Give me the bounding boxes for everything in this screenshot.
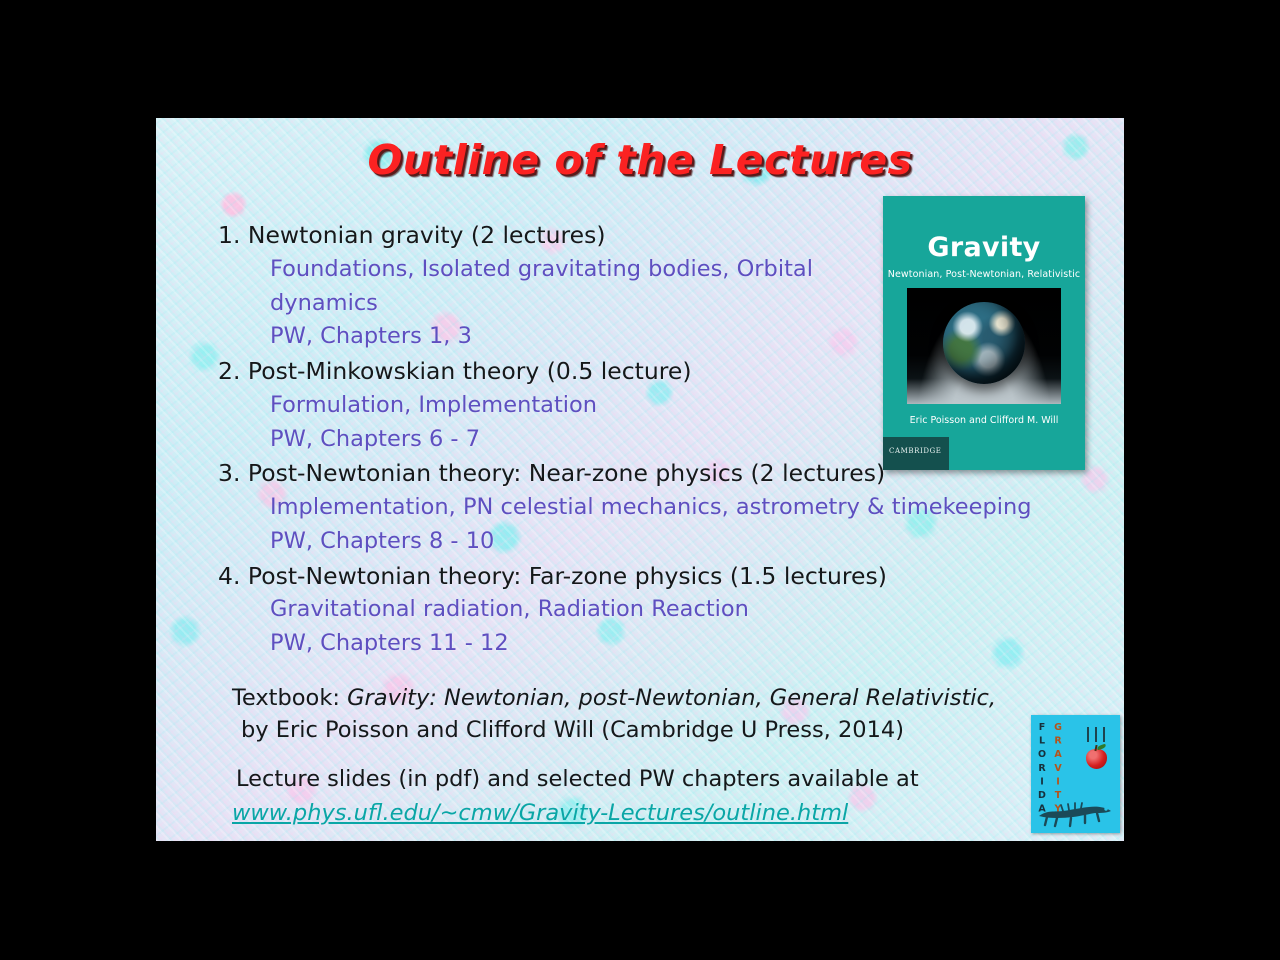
lecture-slides-link[interactable]: www.phys.ufl.edu/~cmw/Gravity-Lectures/o…: [232, 797, 848, 831]
publisher-logo: CAMBRIDGE: [883, 437, 949, 470]
outline-item-subline: Gravitational radiation, Radiation React…: [218, 593, 1048, 627]
availability-note: Lecture slides (in pdf) and selected PW …: [236, 763, 1056, 831]
publisher-name: CAMBRIDGE: [889, 447, 941, 455]
screenshot-canvas: Outline of the Lectures 1. Newtonian gra…: [0, 0, 1280, 960]
motion-line-icon: [1087, 727, 1089, 742]
motion-line-icon: [1103, 727, 1105, 742]
book-cover-image: Gravity Newtonian, Post-Newtonian, Relat…: [883, 196, 1085, 470]
textbook-title: Gravity: Newtonian, post-Newtonian, Gene…: [347, 685, 996, 711]
textbook-byline: by Eric Poisson and Clifford Will (Cambr…: [232, 715, 1032, 747]
motion-line-icon: [1095, 727, 1097, 742]
globe-icon: [943, 302, 1025, 384]
book-cover-title: Gravity: [883, 232, 1085, 263]
outline-item-subline: PW, Chapters 8 - 10: [218, 525, 1048, 559]
outline-item: 4. Post-Newtonian theory: Far-zone physi…: [218, 559, 1048, 661]
outline-item-subline: Implementation, PN celestial mechanics, …: [218, 491, 1048, 525]
presentation-slide: Outline of the Lectures 1. Newtonian gra…: [156, 118, 1124, 841]
alligator-icon: [1037, 794, 1115, 828]
textbook-citation: Textbook: Gravity: Newtonian, post-Newto…: [232, 683, 1032, 747]
outline-item-heading: 4. Post-Newtonian theory: Far-zone physi…: [218, 559, 1048, 594]
book-cover-authors: Eric Poisson and Clifford M. Will: [883, 415, 1085, 426]
availability-text: Lecture slides (in pdf) and selected PW …: [236, 763, 1056, 797]
book-cover-subtitle: Newtonian, Post-Newtonian, Relativistic: [883, 269, 1085, 280]
page-title: Outline of the Lectures: [156, 136, 1124, 184]
red-apple-icon: [1086, 749, 1107, 769]
florida-gravity-logo: FLORIDA GRAVITY: [1031, 715, 1120, 833]
outline-item: 3. Post-Newtonian theory: Near-zone phys…: [218, 456, 1048, 558]
textbook-label: Textbook:: [232, 685, 340, 711]
earth-globe-photo: [907, 288, 1061, 404]
outline-item-subline: PW, Chapters 11 - 12: [218, 627, 1048, 661]
